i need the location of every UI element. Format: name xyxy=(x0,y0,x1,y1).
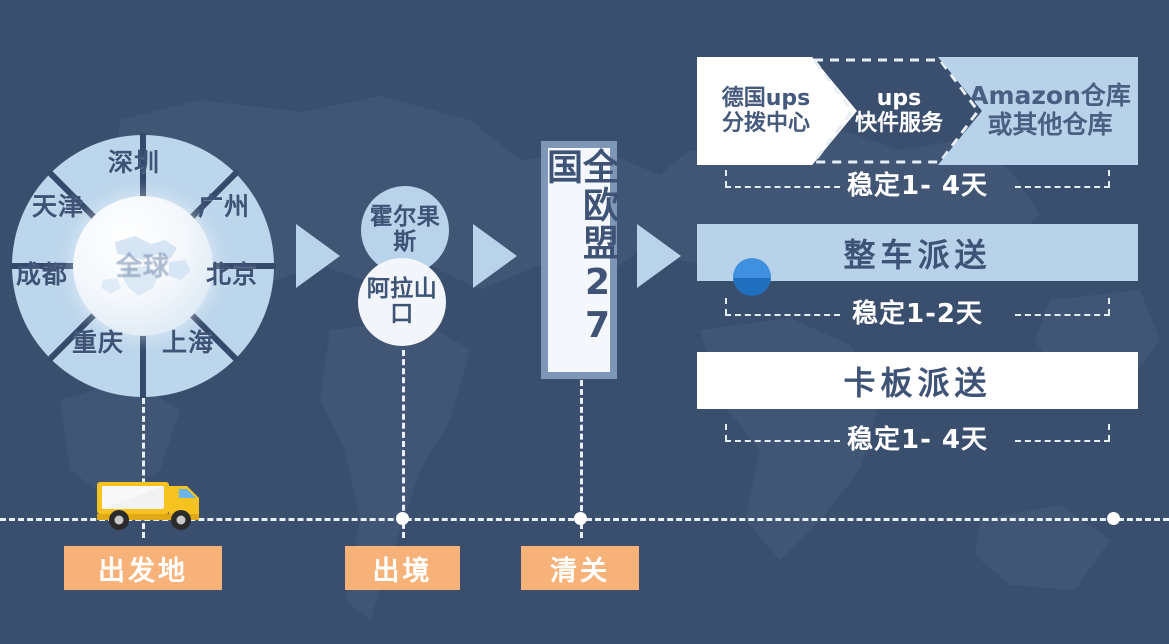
timeline-stage-exit-label: 出境 xyxy=(373,549,433,588)
flow-arrow-1 xyxy=(296,224,340,288)
bracket-truckload-days: 稳定1-2天 xyxy=(725,298,1110,332)
timeline-stage-origin[interactable]: 出发地 xyxy=(64,546,222,590)
bracket-ups-days: 稳定1- 4天 xyxy=(725,170,1110,204)
chevron-amazon-warehouse-line1: Amazon仓库 xyxy=(969,82,1131,111)
wheel-city-chengdu[interactable]: 成都 xyxy=(16,255,68,291)
chevron-ups-hub-line1: 德国ups xyxy=(722,86,811,111)
customs-eu-box[interactable]: 全欧盟27国 xyxy=(541,141,617,379)
wheel-city-chongqing[interactable]: 重庆 xyxy=(72,323,124,359)
border-crossing-alashankou-label: 阿拉山口 xyxy=(358,277,446,327)
chevron-ups-express-line2: 快件服务 xyxy=(855,111,943,136)
wheel-city-beijing[interactable]: 北京 xyxy=(206,255,258,291)
bracket-pallet-days-label: 稳定1- 4天 xyxy=(725,424,1110,456)
wheel-city-shanghai[interactable]: 上海 xyxy=(162,323,214,359)
truck-icon xyxy=(93,470,205,532)
timeline-dot-customs xyxy=(574,512,587,525)
wheel-city-guangzhou[interactable]: 广州 xyxy=(198,187,250,223)
border-crossing-khorgos-label: 霍尔果斯 xyxy=(361,205,449,255)
bar-pallet-delivery-label: 卡板派送 xyxy=(843,358,991,404)
bar-truckload-delivery-label: 整车派送 xyxy=(843,230,991,276)
flow-arrow-2 xyxy=(473,224,517,288)
diagram-canvas: 全球 深圳 广州 北京 上海 重庆 成都 天津 霍尔果斯 阿拉山口 全欧盟27国… xyxy=(0,0,1169,644)
bar-pallet-delivery[interactable]: 卡板派送 xyxy=(697,352,1138,409)
bracket-pallet-days: 稳定1- 4天 xyxy=(725,424,1110,458)
globe-center-label: 全球 xyxy=(73,246,213,283)
wheel-city-shenzhen[interactable]: 深圳 xyxy=(108,143,160,179)
bracket-ups-days-label: 稳定1- 4天 xyxy=(725,170,1110,202)
flow-arrow-3 xyxy=(637,224,681,288)
bracket-truckload-days-label: 稳定1-2天 xyxy=(725,298,1110,330)
wheel-city-tianjin[interactable]: 天津 xyxy=(32,187,84,223)
cursor-indicator xyxy=(733,258,771,296)
timeline-stage-customs[interactable]: 清关 xyxy=(521,546,639,590)
customs-eu-label: 全欧盟27国 xyxy=(543,148,615,372)
timeline-dot-end xyxy=(1107,512,1120,525)
origin-city-wheel: 全球 深圳 广州 北京 上海 重庆 成都 天津 xyxy=(10,133,276,399)
timeline-dot-exit xyxy=(396,512,409,525)
globe-graphic: 全球 xyxy=(73,196,213,336)
timeline-stage-origin-label: 出发地 xyxy=(98,549,188,588)
chevron-ups-express-line1: ups xyxy=(855,86,943,111)
chevron-ups-hub-line2: 分拨中心 xyxy=(722,111,811,136)
timeline-stage-customs-label: 清关 xyxy=(550,549,610,588)
timeline-tick-exit xyxy=(402,350,405,538)
chevron-amazon-warehouse-line2: 或其他仓库 xyxy=(969,111,1131,140)
timeline-stage-exit[interactable]: 出境 xyxy=(345,546,460,590)
border-crossing-alashankou[interactable]: 阿拉山口 xyxy=(358,258,446,346)
